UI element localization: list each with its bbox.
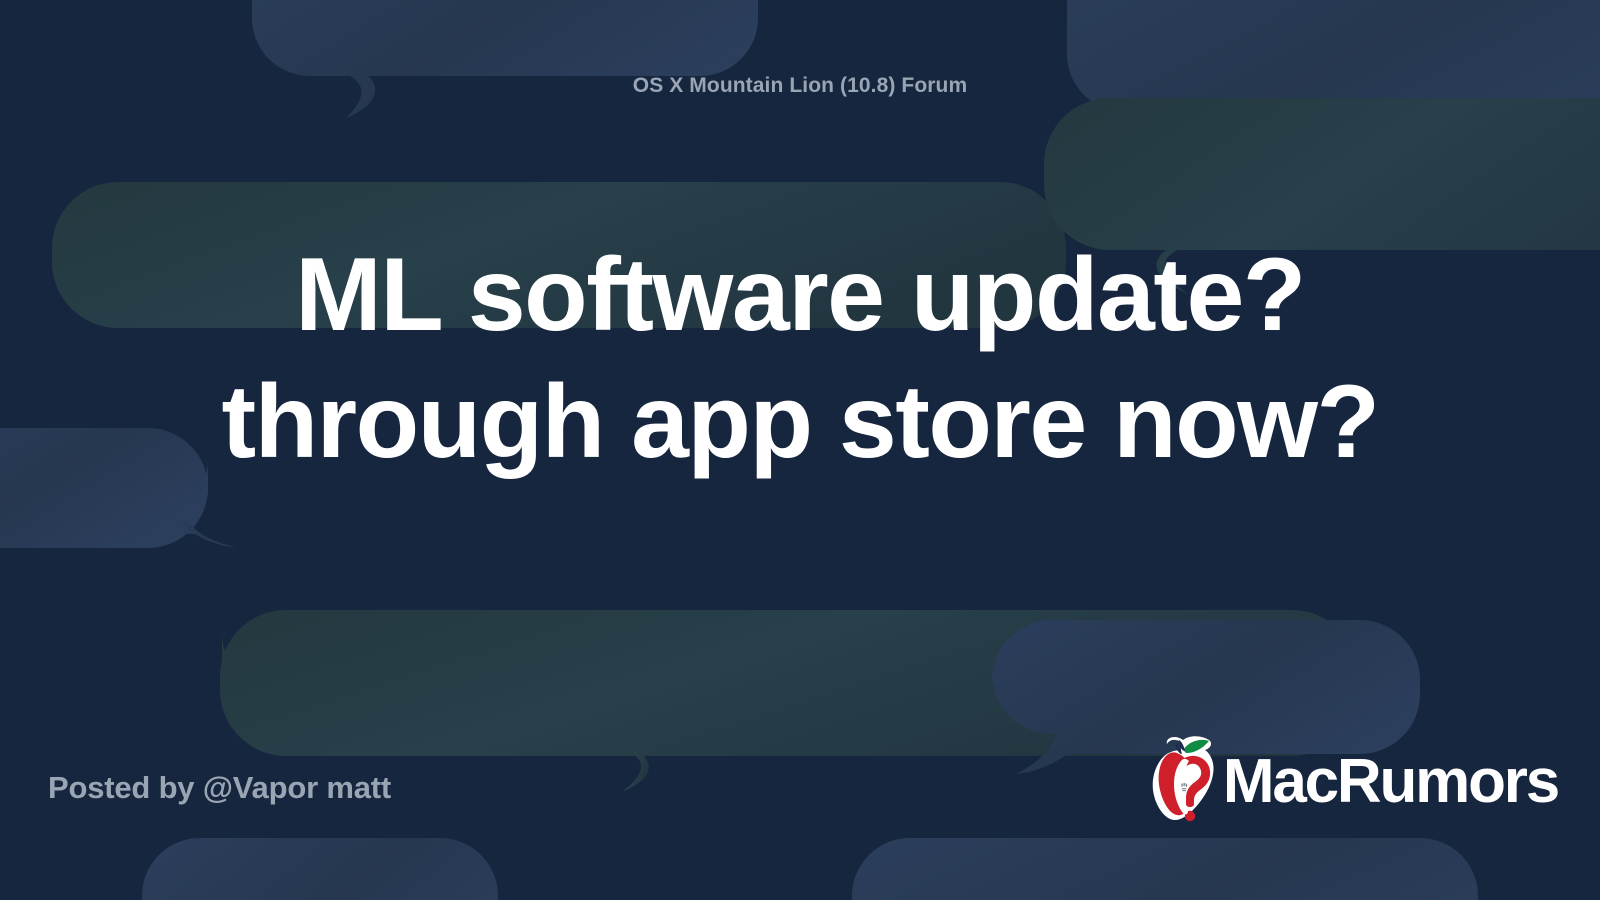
share-card: OS X Mountain Lion (10.8) Forum ML softw… (0, 0, 1600, 900)
bubble-bottom-left (142, 838, 498, 900)
brand-wordmark: MacRumors (1223, 751, 1558, 813)
post-author-label: Posted by @Vapor matt (48, 770, 391, 806)
macrumors-apple-question-mark-icon (1151, 736, 1217, 828)
bubble-bottom-far-right (852, 838, 1478, 900)
page-title: ML software update? through app store no… (110, 232, 1490, 486)
forum-name-label: OS X Mountain Lion (10.8) Forum (0, 74, 1600, 98)
bubble-top-left (252, 0, 758, 118)
macrumors-logo: MacRumors (1151, 736, 1558, 828)
